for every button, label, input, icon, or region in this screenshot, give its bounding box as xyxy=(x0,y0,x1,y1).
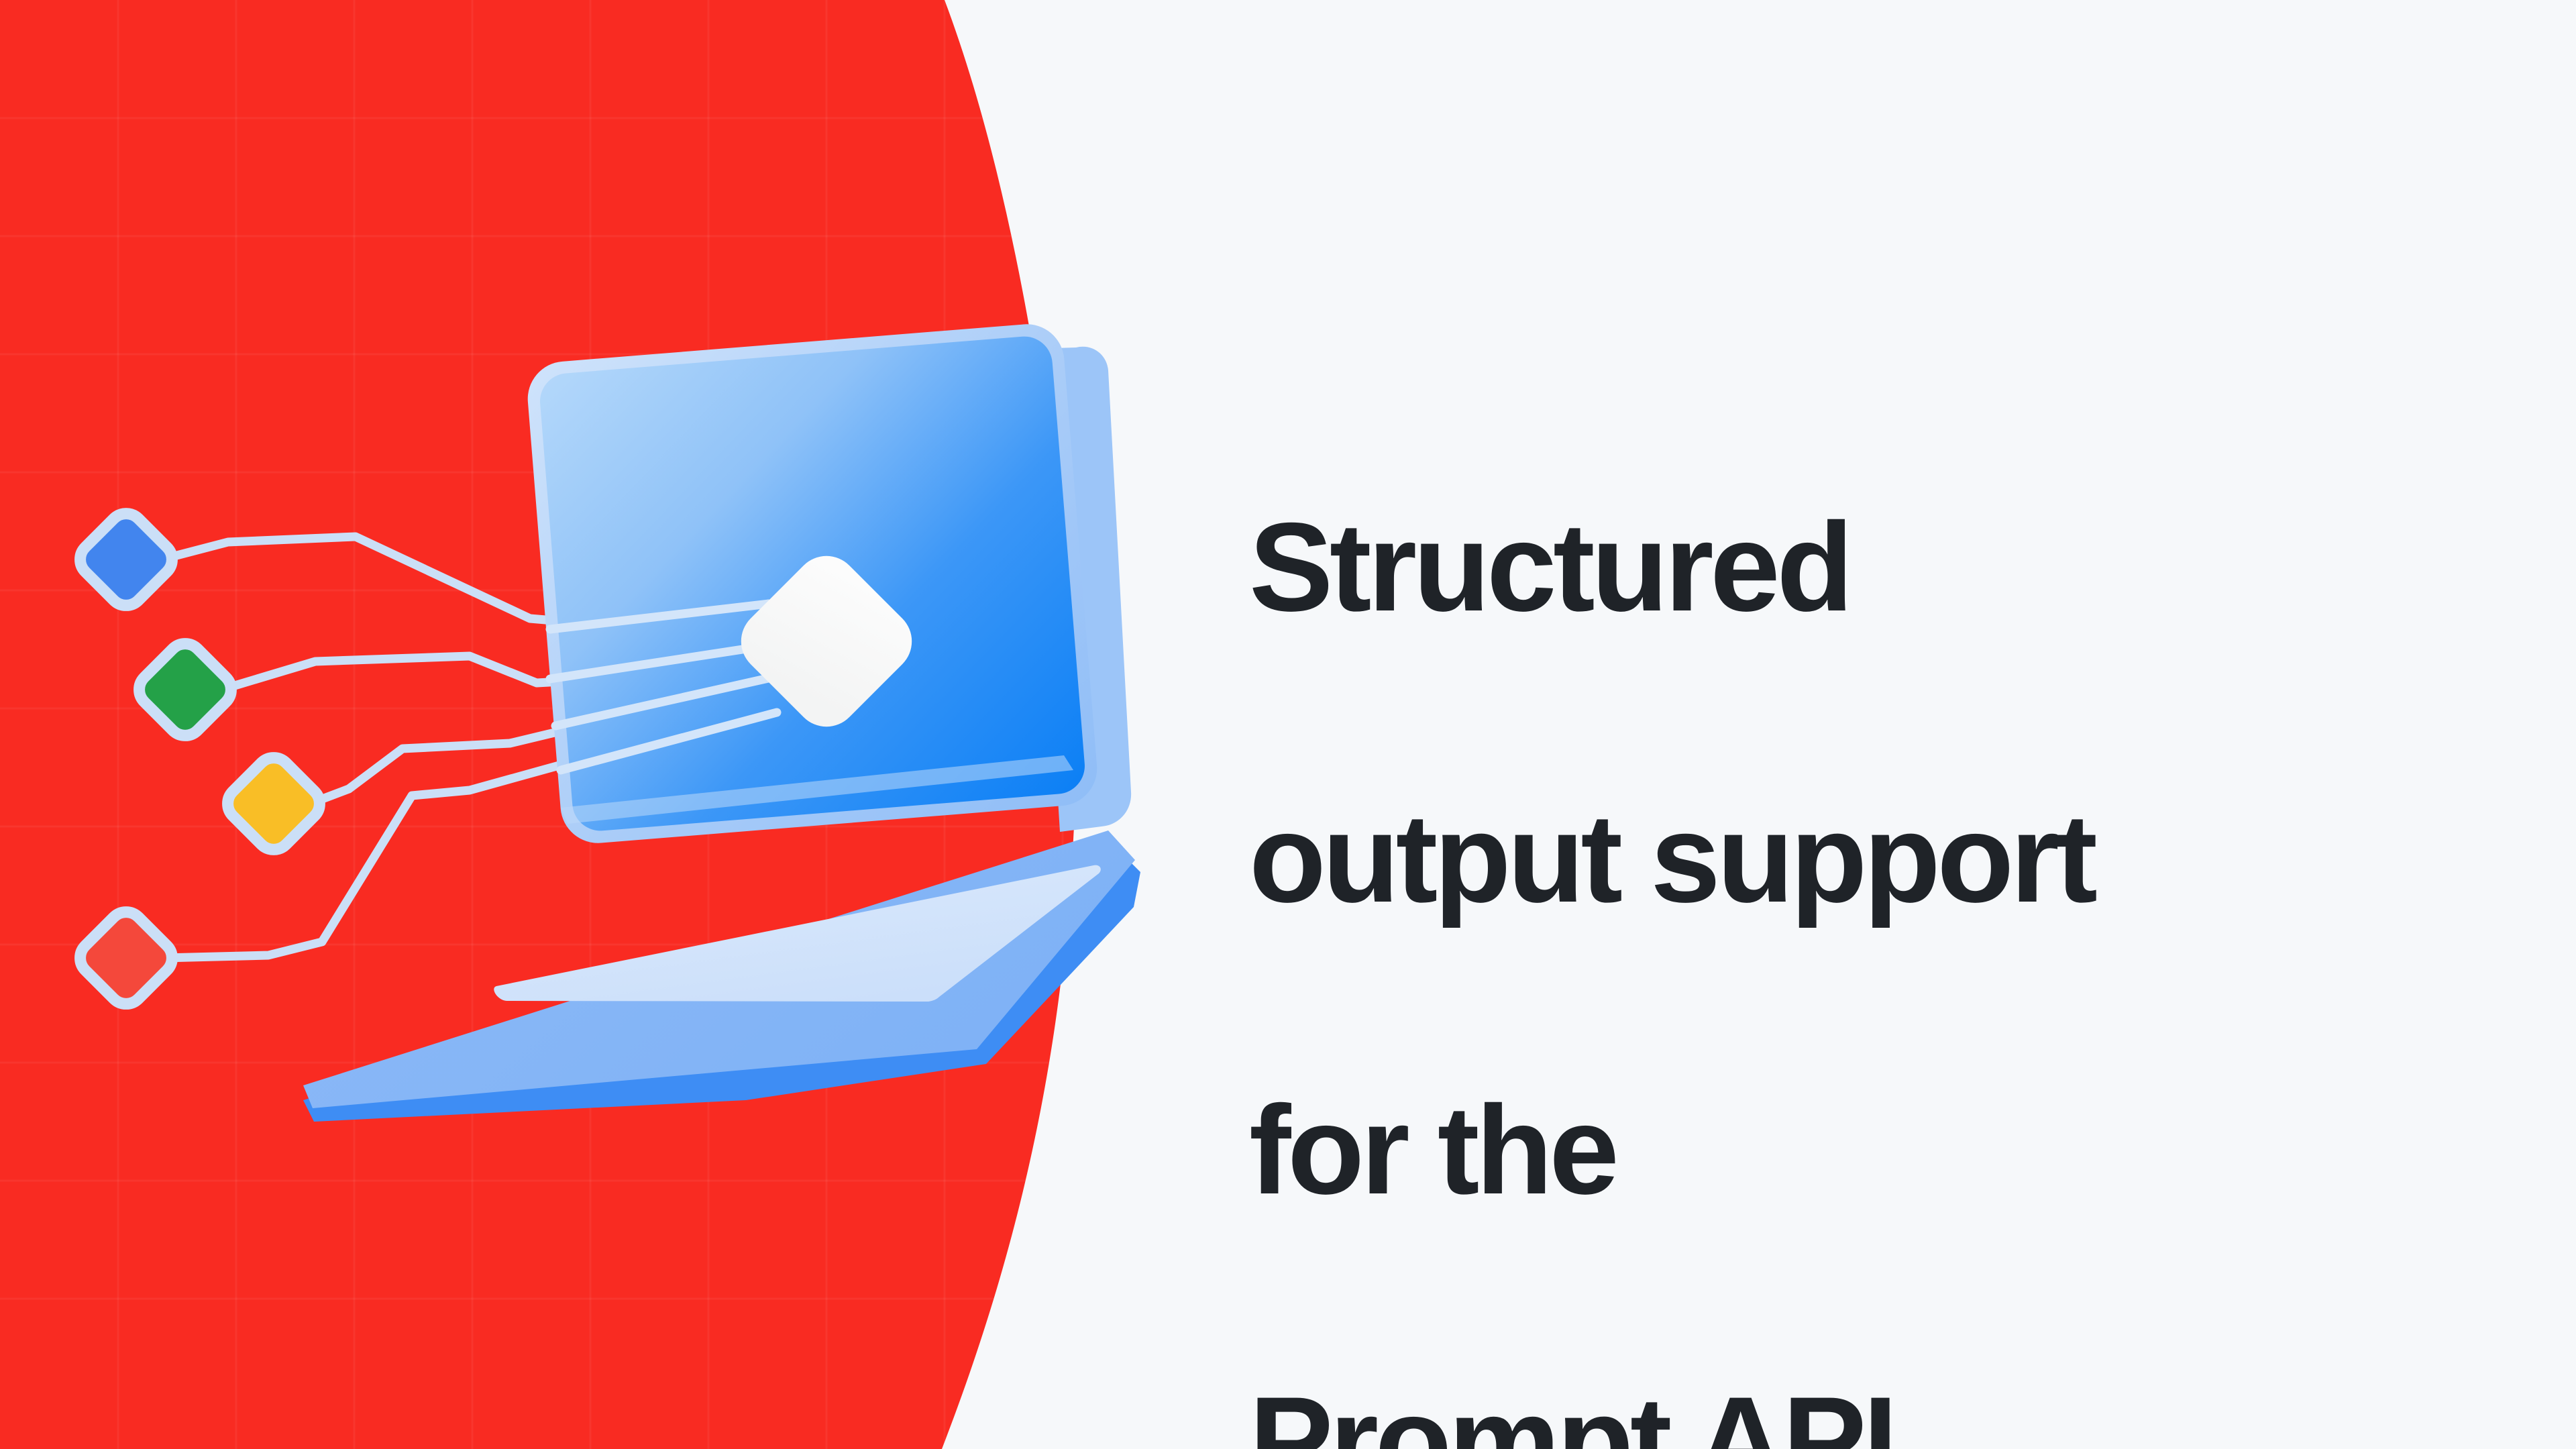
headline-block: Structured output support for the Prompt… xyxy=(1249,349,2510,1449)
hero-banner: Structured output support for the Prompt… xyxy=(0,0,2576,1449)
headline-line-3: for the xyxy=(1249,1077,2510,1223)
headline-line-1: Structured xyxy=(1249,494,2510,640)
page-title: Structured output support for the Prompt… xyxy=(1249,349,2510,1449)
headline-line-2: output support xyxy=(1249,786,2510,931)
headline-line-4: Prompt API xyxy=(1249,1368,2510,1449)
